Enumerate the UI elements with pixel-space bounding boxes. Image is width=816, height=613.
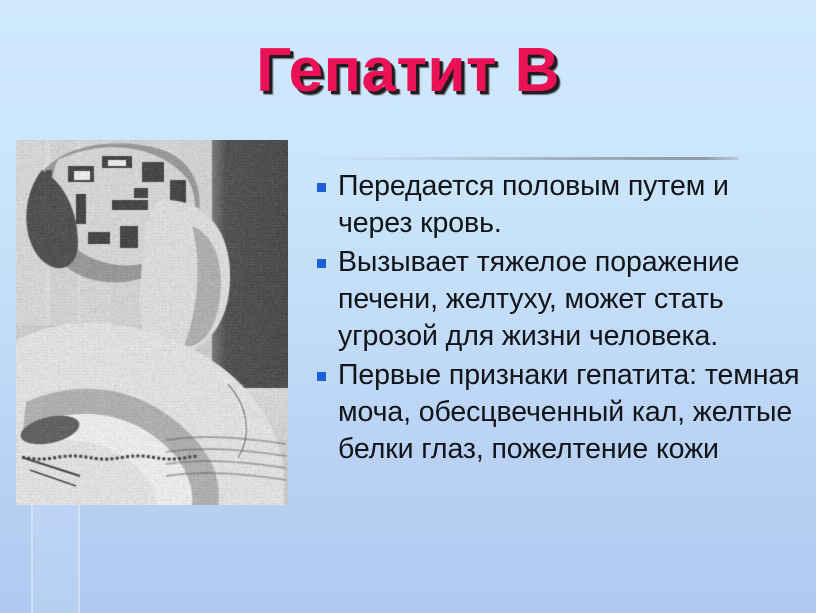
bullet-square-icon <box>317 259 326 268</box>
photo-canvas <box>16 140 288 505</box>
slide-title: Гепатит В <box>0 40 816 102</box>
bullet-square-icon <box>317 183 326 192</box>
list-item-text: Вызывает тяжелое поражение печени, желту… <box>338 244 802 355</box>
decorative-stripe-right <box>78 505 80 613</box>
title-divider <box>308 157 738 160</box>
slide: Гепатит В Передается половым путем и чер… <box>0 0 816 613</box>
bullet-square-icon <box>317 372 326 381</box>
bullet-list: Передается половым путем и через кровь. … <box>310 168 802 470</box>
list-item-text: Первые признаки гепатита: темная моча, о… <box>338 357 802 468</box>
photo-person-with-bandana <box>16 140 288 505</box>
list-item: Передается половым путем и через кровь. <box>310 168 802 242</box>
list-item-text: Передается половым путем и через кровь. <box>338 168 802 242</box>
decorative-band <box>33 505 78 613</box>
list-item: Первые признаки гепатита: темная моча, о… <box>310 357 802 468</box>
list-item: Вызывает тяжелое поражение печени, желту… <box>310 244 802 355</box>
decorative-stripe-left <box>31 505 33 613</box>
